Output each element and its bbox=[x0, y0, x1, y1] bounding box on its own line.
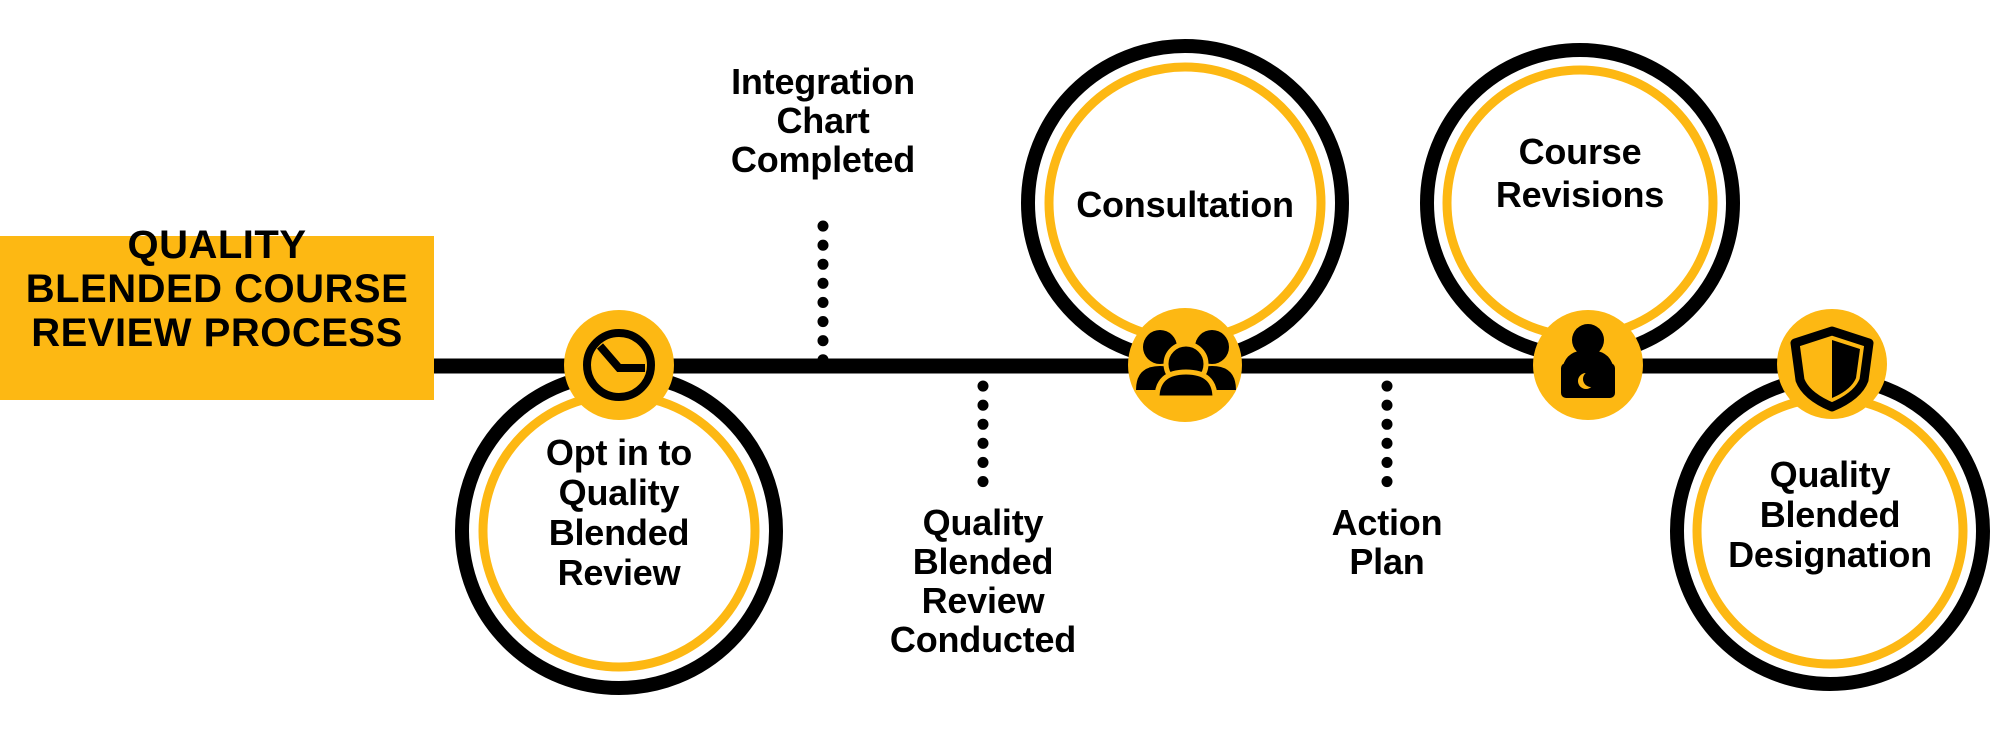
process-diagram: QUALITY BLENDED COURSE REVIEW PROCESS In… bbox=[0, 0, 1999, 734]
node-label-line-3: Designation bbox=[1728, 534, 1932, 575]
label-line-3: Review bbox=[922, 580, 1046, 621]
node-label-line-1: Consultation bbox=[1076, 184, 1294, 225]
label-line-4: Conducted bbox=[890, 619, 1076, 660]
label-line-2: Blended bbox=[913, 541, 1054, 582]
node-label-line-2: Quality bbox=[559, 472, 680, 513]
title-line-2: BLENDED COURSE bbox=[26, 267, 409, 311]
node-label-line-1: Course bbox=[1519, 131, 1642, 172]
label-line-1: Quality bbox=[923, 502, 1044, 543]
node-label-line-4: Review bbox=[558, 552, 682, 593]
node-label-line-3: Blended bbox=[549, 512, 690, 553]
label-line-1: Integration bbox=[731, 61, 915, 102]
title-line-1: QUALITY bbox=[127, 223, 306, 267]
node-label-line-1: Opt in to bbox=[546, 432, 692, 473]
node-label-line-2: Revisions bbox=[1496, 174, 1664, 215]
label-line-1: Action bbox=[1332, 502, 1443, 543]
node-label-line-2: Blended bbox=[1760, 494, 1901, 535]
node-label-line-1: Quality bbox=[1770, 454, 1891, 495]
process-flow-svg: QUALITY BLENDED COURSE REVIEW PROCESS In… bbox=[0, 0, 1999, 734]
title-line-3: REVIEW PROCESS bbox=[31, 311, 403, 355]
label-line-2: Plan bbox=[1349, 541, 1424, 582]
title-box: QUALITY BLENDED COURSE REVIEW PROCESS bbox=[0, 223, 434, 400]
label-line-3: Completed bbox=[731, 139, 915, 180]
label-line-2: Chart bbox=[776, 100, 869, 141]
